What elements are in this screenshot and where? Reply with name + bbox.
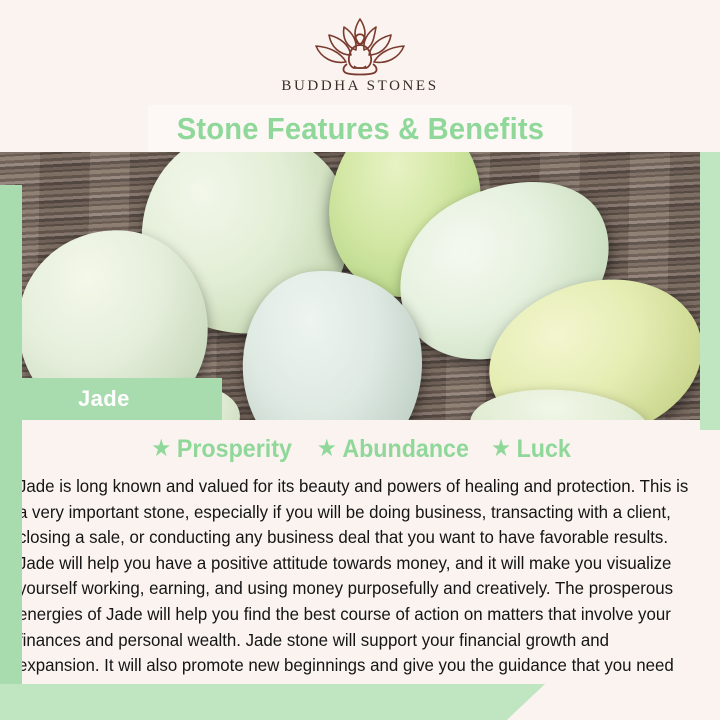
star-icon: ★ [151, 437, 171, 461]
keyword-label: Luck [517, 435, 571, 464]
stone-name-banner: Jade [22, 378, 222, 420]
keyword-abundance: ★ Abundance [317, 435, 469, 464]
page-title: Stone Features & Benefits [176, 111, 543, 147]
frame-accent-bottom [0, 684, 545, 720]
keyword-luck: ★ Luck [491, 435, 571, 464]
star-icon: ★ [317, 437, 337, 461]
lotus-meditation-icon [301, 14, 419, 76]
frame-accent-left [0, 185, 22, 685]
title-band: Stone Features & Benefits [148, 105, 572, 152]
stone-description: Jade is long known and valued for its be… [18, 474, 689, 704]
brand-logo: BUDDHA STONES [0, 0, 720, 95]
poster-body: ★ Prosperity ★ Abundance ★ Luck Jade is … [0, 420, 720, 684]
keyword-label: Prosperity [177, 435, 292, 464]
keyword-prosperity: ★ Prosperity [151, 435, 292, 464]
brand-name: BUDDHA STONES [281, 78, 438, 95]
keyword-label: Abundance [342, 435, 469, 464]
keyword-list: ★ Prosperity ★ Abundance ★ Luck [0, 420, 720, 466]
star-icon: ★ [491, 437, 511, 461]
stone-info-poster: BUDDHA STONES Stone Features & Benefits … [0, 0, 720, 720]
stone-name-label: Jade [78, 386, 130, 412]
